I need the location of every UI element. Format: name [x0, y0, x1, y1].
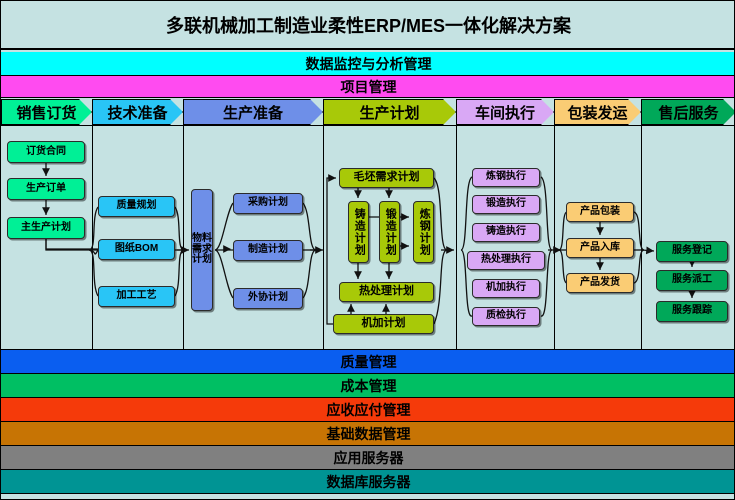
footer-bar-label: 应收应付管理 — [327, 400, 411, 420]
footer-bar-label: 数据库服务器 — [327, 472, 411, 492]
node-workshop-2[interactable]: 铸造执行 — [472, 223, 540, 242]
stage-header-tech[interactable]: 技术准备 — [92, 99, 183, 125]
stage-header-label: 包装发运 — [567, 102, 627, 123]
node-label: 生产订单 — [26, 184, 66, 195]
diagram-canvas: 多联机械加工制造业柔性ERP/MES一体化解决方案 数据监控与分析管理 项目管理… — [0, 0, 735, 500]
node-workshop-4[interactable]: 机加执行 — [472, 279, 540, 298]
node-label: 热处理计划 — [359, 286, 414, 298]
stage-header-label: 技术准备 — [107, 102, 167, 123]
node-label: 铸造计划 — [353, 208, 365, 256]
node-label: 外协计划 — [248, 293, 288, 304]
node-label: 主生产计划 — [21, 223, 71, 234]
footer-bar-0[interactable]: 质量管理 — [1, 350, 735, 374]
footer-bar-label: 质量管理 — [341, 352, 397, 372]
band-data-monitoring-label: 数据监控与分析管理 — [306, 54, 432, 74]
node-packaging-0[interactable]: 产品包装 — [566, 202, 634, 222]
column-separator-1 — [183, 125, 184, 349]
node-prepare-1[interactable]: 制造计划 — [233, 240, 303, 261]
footer-bar-5[interactable]: 数据库服务器 — [1, 470, 735, 494]
stage-header-label: 销售订货 — [16, 102, 76, 123]
node-tech-0[interactable]: 质量规划 — [98, 196, 175, 217]
node-tech-1[interactable]: 图纸BOM — [98, 239, 175, 260]
node-label: 质量规划 — [117, 201, 157, 212]
column-separator-4 — [554, 125, 555, 349]
node-service-2[interactable]: 服务跟踪 — [656, 301, 728, 322]
column-separator-5 — [641, 125, 642, 349]
node-label: 机加计划 — [362, 318, 406, 330]
node-plan-5[interactable]: 机加计划 — [333, 314, 434, 334]
node-plan-0[interactable]: 毛坯需求计划 — [339, 168, 434, 188]
node-sales-1[interactable]: 生产订单 — [7, 178, 85, 200]
node-sales-2[interactable]: 主生产计划 — [7, 217, 85, 239]
node-plan-3[interactable]: 炼钢计划 — [413, 201, 434, 263]
node-label: 锻造执行 — [486, 199, 526, 210]
stage-header-label: 售后服务 — [658, 102, 718, 123]
node-workshop-3[interactable]: 热处理执行 — [467, 251, 545, 270]
node-label: 服务派工 — [672, 275, 712, 286]
node-packaging-2[interactable]: 产品发货 — [566, 273, 634, 293]
node-prepare-2[interactable]: 外协计划 — [233, 288, 303, 309]
node-sales-0[interactable]: 订货合同 — [7, 141, 85, 163]
footer-bar-2[interactable]: 应收应付管理 — [1, 398, 735, 422]
band-data-monitoring: 数据监控与分析管理 — [1, 52, 735, 76]
node-label: 物料需求计划 — [192, 234, 212, 266]
node-label: 采购计划 — [248, 198, 288, 209]
diagram-title-bar: 多联机械加工制造业柔性ERP/MES一体化解决方案 — [1, 1, 735, 50]
node-label: 炼钢计划 — [418, 208, 430, 256]
footer-bar-4[interactable]: 应用服务器 — [1, 446, 735, 470]
node-plan-1[interactable]: 铸造计划 — [348, 201, 369, 263]
node-label: 订货合同 — [26, 147, 66, 158]
stage-header-label: 生产准备 — [223, 102, 283, 123]
node-label: 铸造执行 — [486, 227, 526, 238]
node-tech-2[interactable]: 加工工艺 — [98, 286, 175, 307]
node-packaging-1[interactable]: 产品入库 — [566, 238, 634, 258]
node-label: 质检执行 — [486, 311, 526, 322]
footer-bar-1[interactable]: 成本管理 — [1, 374, 735, 398]
node-label: 炼钢执行 — [486, 172, 526, 183]
footer-bar-3[interactable]: 基础数据管理 — [1, 422, 735, 446]
stage-header-sales[interactable]: 销售订货 — [1, 99, 92, 125]
node-label: 产品入库 — [580, 243, 620, 254]
node-workshop-0[interactable]: 炼钢执行 — [472, 168, 540, 187]
body-top-divider — [1, 125, 735, 126]
node-label: 加工工艺 — [117, 291, 157, 302]
band-project-management-label: 项目管理 — [341, 77, 397, 97]
node-plan-4[interactable]: 热处理计划 — [339, 282, 434, 302]
footer-bar-label: 基础数据管理 — [327, 424, 411, 444]
column-separator-2 — [323, 125, 324, 349]
node-label: 图纸BOM — [115, 244, 158, 255]
node-label: 机加执行 — [486, 283, 526, 294]
node-label: 产品发货 — [580, 278, 620, 289]
stage-header-label: 生产计划 — [359, 102, 419, 123]
node-label: 产品包装 — [580, 207, 620, 218]
node-plan-2[interactable]: 锻造计划 — [379, 201, 400, 263]
node-label: 热处理执行 — [481, 255, 531, 266]
node-label: 毛坯需求计划 — [354, 172, 420, 184]
stage-header-packaging[interactable]: 包装发运 — [554, 99, 641, 125]
stage-header-workshop[interactable]: 车间执行 — [456, 99, 554, 125]
column-separator-0 — [92, 125, 93, 349]
node-label: 服务跟踪 — [672, 306, 712, 317]
node-workshop-1[interactable]: 锻造执行 — [472, 195, 540, 214]
band-project-management: 项目管理 — [1, 76, 735, 98]
stage-header-prepare[interactable]: 生产准备 — [183, 99, 323, 125]
footer-bar-label: 成本管理 — [341, 376, 397, 396]
node-service-0[interactable]: 服务登记 — [656, 241, 728, 262]
diagram-title: 多联机械加工制造业柔性ERP/MES一体化解决方案 — [166, 12, 571, 38]
stage-header-service[interactable]: 售后服务 — [641, 99, 735, 125]
column-separator-3 — [456, 125, 457, 349]
stage-header-label: 车间执行 — [475, 102, 535, 123]
node-label: 锻造计划 — [384, 208, 396, 256]
node-label: 服务登记 — [672, 246, 712, 257]
node-label: 制造计划 — [248, 245, 288, 256]
node-service-1[interactable]: 服务派工 — [656, 270, 728, 291]
footer-bar-label: 应用服务器 — [334, 448, 404, 468]
node-prepare-0[interactable]: 采购计划 — [233, 193, 303, 214]
node-material-requirement-plan[interactable]: 物料需求计划 — [191, 189, 213, 311]
stage-header-plan[interactable]: 生产计划 — [323, 99, 456, 125]
node-workshop-5[interactable]: 质检执行 — [472, 307, 540, 326]
